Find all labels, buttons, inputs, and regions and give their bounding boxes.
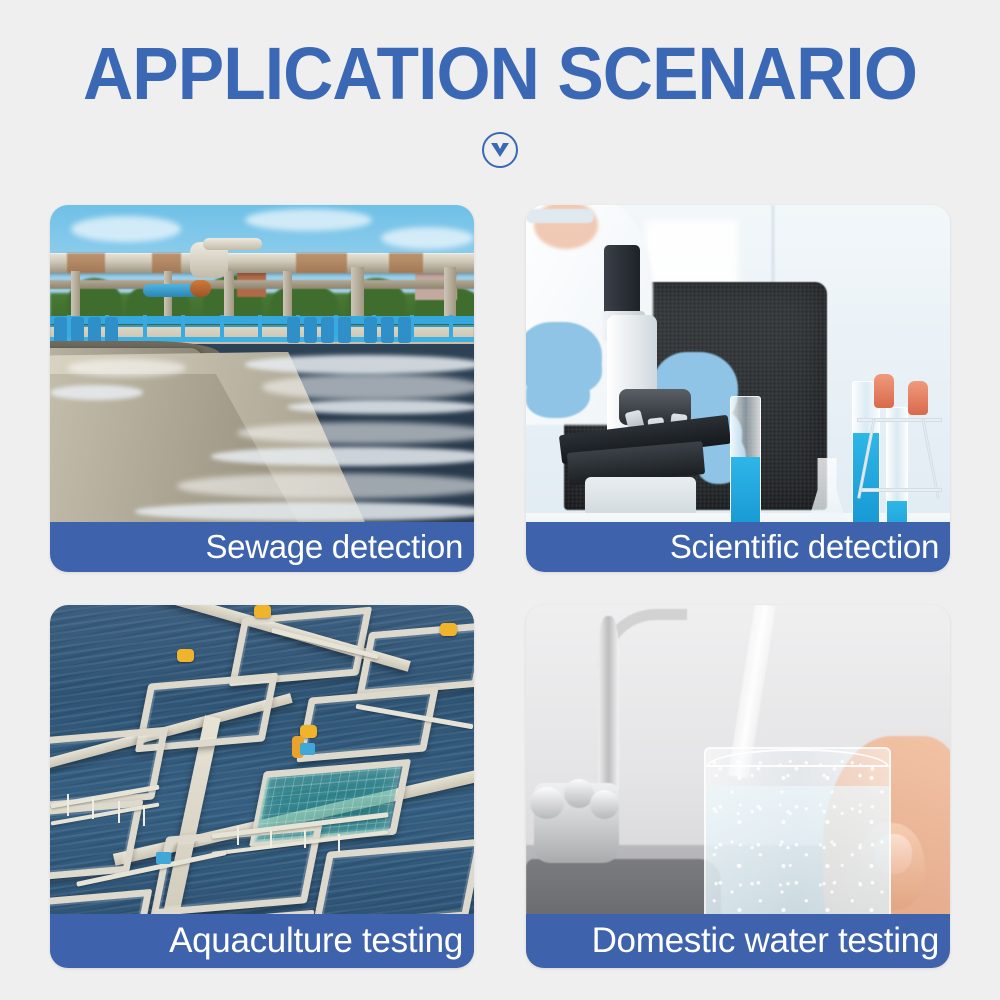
card-caption-label: Sewage detection [205,530,463,564]
page-title: APPLICATION SCENARIO [30,34,970,114]
section-divider [0,132,1000,168]
chevron-down-circle-icon [482,132,518,168]
card-caption-bar: Domestic water testing [526,914,950,968]
scenario-card-aquaculture-testing[interactable]: Aquaculture testing [50,605,474,968]
card-caption-label: Domestic water testing [592,924,939,958]
card-caption-label: Scientific detection [670,530,939,564]
card-caption-bar: Aquaculture testing [50,914,474,968]
laboratory-microscope-photo [526,205,950,572]
scenario-card-scientific-detection[interactable]: Scientific detection [526,205,950,572]
card-caption-bar: Sewage detection [50,522,474,572]
page-header: APPLICATION SCENARIO [0,0,1000,168]
scenario-card-sewage-detection[interactable]: Sewage detection [50,205,474,572]
card-caption-bar: Scientific detection [526,522,950,572]
scenario-card-grid: Sewage detection [50,205,950,968]
scenario-card-domestic-water-testing[interactable]: Domestic water testing [526,605,950,968]
sewage-treatment-plant-photo [50,205,474,572]
card-caption-label: Aquaculture testing [169,924,463,958]
